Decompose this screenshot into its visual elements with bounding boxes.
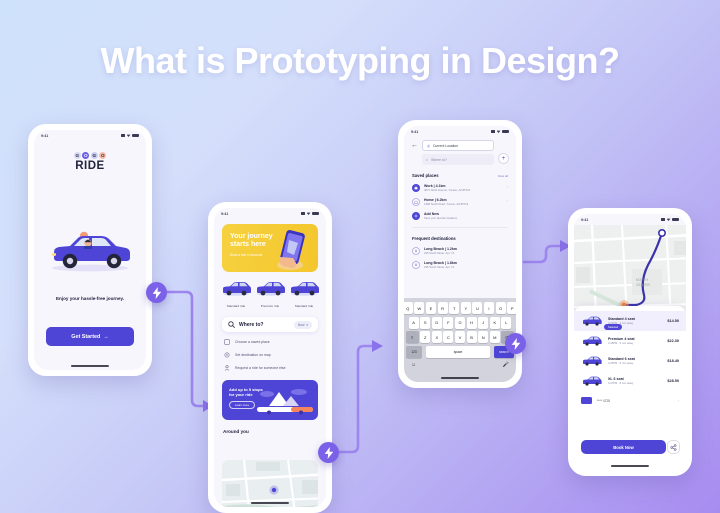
frequent-destinations-header: Frequent destinations [412,236,508,241]
key-i[interactable]: I [484,302,494,314]
plus-icon [412,212,420,220]
key-v[interactable]: V [455,331,465,343]
logo-dots: G O G O [34,152,146,159]
key-y[interactable]: Y [461,302,471,314]
keyboard-row-4: 123 space search [406,346,514,358]
key-l[interactable]: L [501,317,511,329]
key-space[interactable]: space [426,346,491,358]
ride-option-price: $22.30 [667,339,679,343]
ride-options-sheet: Standard 4 seat 4:20PM · 3 min away $14.… [574,306,686,470]
car-illustration [34,227,146,273]
home-indicator [251,502,289,504]
screen-ride-selection: 9:41 [574,214,686,470]
svg-text:NORTH: NORTH [636,278,649,282]
lightning-bolt-icon [318,442,339,463]
home-indicator [441,377,479,379]
ride-option-name: XL 6 seat [608,377,662,381]
phone-mockup-ride-selection: 9:41 [568,208,692,476]
ride-option-meta: 4:27PM · 8 min away [608,382,662,385]
payment-method-row[interactable]: **** 4728 › [574,391,686,404]
key-u[interactable]: U [472,302,482,314]
get-started-label: Get Started [71,334,100,340]
wifi-icon [127,134,131,137]
ride-option-text: Premium 4 seat 4:18PM · 5 min away [608,337,662,345]
saved-places-action[interactable]: View all [498,174,508,178]
signal-icon [491,130,495,133]
signal-icon [301,212,305,215]
hero-illustration [272,227,314,272]
car-icon [581,316,603,326]
frequent-title: Frequent destinations [412,236,456,241]
emoji-icon[interactable]: ☺ [411,362,416,368]
origin-value: Current Location [433,144,458,148]
car-icon [288,281,321,296]
quick-option-someone-else[interactable]: Request a ride for someone else [224,365,316,371]
saved-places-header: Saved places View all [412,173,508,178]
on-screen-keyboard[interactable]: Q W E R T Y U I O P A S D F G H [404,298,516,382]
saved-places-title: Saved places [412,173,439,178]
car-icon [581,376,603,386]
logo-dot-g2: G [91,152,98,159]
logo-dot-o2: O [99,152,106,159]
quick-option-label: Choose a saved place [235,340,270,344]
frequent-text: Long Beach | 1.2km 235 South Street, Apt… [424,247,508,255]
status-icons [491,130,509,133]
logo-wordmark: RIDE [34,160,146,172]
ride-option-text: Standard 6 seat 4:25PM · 6 min away [608,357,662,365]
quick-option-label: Request a ride for someone else [235,366,286,370]
key-d[interactable]: D [432,317,442,329]
frequent-item-title: Long Beach | 1.8km [424,261,508,265]
ride-option-row[interactable]: Premium 4 seat 4:18PM · 5 min away $22.3… [574,331,686,351]
status-icons [661,218,679,221]
chevron-right-icon: › [678,398,679,403]
keyboard-row-3: ⇧ Z X C V B N M ⌫ [406,331,514,343]
saved-place-item[interactable]: Home | 6.2km 1398 South Road, Tucson, AZ… [412,198,508,206]
frequent-item-subtitle: 235 South Street, Apt. 7A [424,266,508,269]
page-title: What is Prototyping in Design? [0,40,720,82]
pin-icon [224,352,230,358]
battery-icon [312,212,319,215]
key-b[interactable]: B [467,331,477,343]
ride-category-2[interactable]: Standard ride [287,281,321,308]
saved-place-item[interactable]: Work | 4.1km 4871 North Avenue, Tucson, … [412,184,508,192]
key-w[interactable]: W [414,302,424,314]
payment-label: **** 4728 [597,399,673,403]
work-icon [412,184,420,192]
saved-place-text: Home | 6.2km 1398 South Road, Tucson, AZ… [424,198,503,206]
svg-text:CENTER: CENTER [636,283,650,287]
key-k[interactable]: K [490,317,500,329]
signal-icon [661,218,665,221]
book-now-button[interactable]: Book Now [581,440,666,454]
ride-option-name: Standard 4 seat [608,317,662,321]
key-g[interactable]: G [455,317,465,329]
promo-card[interactable]: Add up to 5 stops for your ride Learn mo… [222,380,318,420]
pin-icon [412,261,420,269]
hero-banner[interactable]: Your journey starts here Book a ride in … [222,224,318,272]
key-e[interactable]: E [426,302,436,314]
key-r[interactable]: R [438,302,448,314]
keyboard-row-1: Q W E R T Y U I O P [406,302,514,314]
saved-place-title: Home | 6.2km [424,198,503,202]
poster-canvas: What is Prototyping in Design? 9:41 G [0,0,720,513]
search-input[interactable]: Where to? Now ▾ [222,317,318,332]
ride-category-label: Premium ride [253,304,287,308]
ride-category-1[interactable]: Premium ride [253,281,287,308]
around-you-title: Around you [223,429,326,434]
car-icon [581,336,603,346]
key-s[interactable]: S [420,317,430,329]
car-icon [254,281,287,296]
frequent-text: Long Beach | 1.8km 235 South Street, Apt… [424,261,508,269]
battery-icon [132,134,139,137]
status-icons [301,212,319,215]
status-bar: 9:41 [214,208,326,219]
key-numbers[interactable]: 123 [406,346,422,358]
car-icon [220,281,253,296]
ride-option-name: Standard 6 seat [608,357,662,361]
quick-option-label: Set destination on map [235,353,271,357]
status-bar: 9:41 [574,214,686,225]
status-bar: 9:41 [34,130,146,141]
frequent-destination-item[interactable]: Long Beach | 1.8km 235 South Street, Apt… [412,261,508,269]
frequent-destination-item[interactable]: Long Beach | 1.2km 235 South Street, Apt… [412,247,508,255]
location-fields: ◎ Current Location □ Where to? [422,140,494,165]
key-h[interactable]: H [467,317,477,329]
screen-onboarding: 9:41 G O G O RIDE [34,130,146,370]
hero-subtitle: Book a ride in seconds [230,253,275,257]
back-arrow-icon[interactable]: ← [411,142,418,149]
time-chip-label: Now [298,323,304,327]
saved-place-subtitle: 1398 South Road, Tucson, AZ 85719 [424,203,503,206]
frequent-item-subtitle: 235 South Street, Apt. 7A [424,252,508,255]
person-icon [224,365,230,371]
key-a[interactable]: A [409,317,419,329]
signal-icon [121,134,125,137]
brand-logo: G O G O RIDE [34,152,146,172]
battery-icon [672,218,679,221]
ride-category-row: Standard ride Premium ride [214,281,326,308]
search-placeholder: Where to? [239,322,290,328]
screen-home: 9:41 Your journey starts here Book a rid… [214,208,326,507]
lightning-bolt-icon [146,282,167,303]
key-q[interactable]: Q [404,302,413,314]
car-icon [581,356,603,366]
search-icon [228,321,235,328]
key-f[interactable]: F [443,317,453,329]
add-new-text: Add New Save your favorite locations [424,212,508,220]
add-new-place-item[interactable]: Add New Save your favorite locations [412,212,508,220]
chevron-right-icon: › [507,198,508,203]
keyboard-row-2: A S D F G H J K L [406,317,514,329]
logo-dot-o1: O [82,152,89,159]
frequent-item-title: Long Beach | 1.2km [424,247,508,251]
ride-option-price: $14.50 [667,319,679,323]
origin-field[interactable]: ◎ Current Location [422,140,494,151]
add-new-title: Add New [424,212,508,216]
ride-option-price: $18.40 [667,359,679,363]
ride-option-row[interactable]: Standard 4 seat 4:20PM · 3 min away $14.… [574,311,686,331]
key-t[interactable]: T [449,302,459,314]
ride-option-meta: 4:25PM · 6 min away [608,362,662,365]
ride-option-price: $28.50 [667,379,679,383]
share-icon[interactable] [667,440,680,454]
home-icon [412,198,420,206]
ride-category-0[interactable]: Standard ride [219,281,253,308]
search-header: ← ◎ Current Location □ Where to? + [404,137,516,165]
onboarding-tagline: Enjoy your hassle-free journey. [34,296,146,301]
destination-dot-icon: □ [426,158,428,162]
section-divider [412,227,508,228]
key-z[interactable]: Z [420,331,430,343]
chevron-down-icon: ▾ [306,323,308,327]
ride-option-row[interactable]: Standard 6 seat 4:25PM · 6 min away $18.… [574,351,686,371]
pin-icon [412,247,420,255]
destination-field[interactable]: □ Where to? [422,154,494,165]
status-time: 9:41 [221,212,228,216]
key-j[interactable]: J [478,317,488,329]
phone-mockup-search: 9:41 ← ◎ Current Location □ Where to [398,120,522,388]
key-c[interactable]: C [443,331,453,343]
status-bar: 9:41 [404,126,516,137]
dropoff-marker [659,230,665,236]
status-time: 9:41 [581,218,588,222]
screen-search: 9:41 ← ◎ Current Location □ Where to [404,126,516,382]
get-started-button[interactable]: Get Started → [46,327,134,346]
phone-mockup-home: 9:41 Your journey starts here Book a rid… [208,202,332,513]
destination-placeholder: Where to? [431,158,447,162]
key-o[interactable]: O [496,302,506,314]
nearby-map[interactable] [222,460,318,507]
mic-icon[interactable]: 🎤 [503,362,509,368]
ride-category-label: Standard ride [287,304,321,308]
ride-option-name: Premium 4 seat [608,337,662,341]
route-map[interactable]: NORTH CENTER [574,225,686,317]
logo-dot-g1: G [74,152,81,159]
home-indicator [71,365,109,367]
wifi-icon [307,212,311,215]
key-x[interactable]: X [432,331,442,343]
keyboard-footer: ☺ 🎤 [406,360,514,368]
status-icons [121,134,139,137]
status-time: 9:41 [41,134,48,138]
key-m[interactable]: M [490,331,500,343]
saved-place-text: Work | 4.1km 4871 North Avenue, Tucson, … [424,184,503,192]
quick-option-set-on-map[interactable]: Set destination on map [224,352,316,358]
phone-mockup-onboarding: 9:41 G O G O RIDE [28,124,152,376]
credit-card-icon [581,397,592,404]
home-indicator [611,465,649,467]
chevron-right-icon: › [507,184,508,189]
promo-button[interactable]: Learn more [229,401,255,409]
bookmark-icon [224,339,230,345]
quick-option-saved-place[interactable]: Choose a saved place [224,339,316,345]
status-time: 9:41 [411,130,418,134]
time-chip[interactable]: Now ▾ [294,321,312,329]
add-new-subtitle: Save your favorite locations [424,217,508,220]
ride-category-label: Standard ride [219,304,253,308]
shift-icon[interactable]: ⇧ [406,331,419,343]
key-p[interactable]: P [507,302,516,314]
promo-illustration [255,386,315,416]
lightning-bolt-icon [505,333,526,354]
origin-dot-icon: ◎ [427,144,430,148]
battery-icon [502,130,509,133]
saved-place-title: Work | 4.1km [424,184,503,188]
saved-place-subtitle: 4871 North Avenue, Tucson, AZ 85716 [424,189,503,192]
hero-title: Your journey starts here [230,233,275,250]
ride-option-row[interactable]: XL 6 seat 4:27PM · 8 min away $28.50 [574,371,686,391]
ride-option-text: XL 6 seat 4:27PM · 8 min away [608,377,662,385]
ride-option-meta: 4:18PM · 5 min away [608,342,662,345]
status-badge: Selected [604,324,622,330]
add-stop-button[interactable]: + [498,153,509,164]
key-n[interactable]: N [478,331,488,343]
wifi-icon [497,130,501,133]
arrow-right-icon: → [103,334,108,340]
wifi-icon [667,218,671,221]
